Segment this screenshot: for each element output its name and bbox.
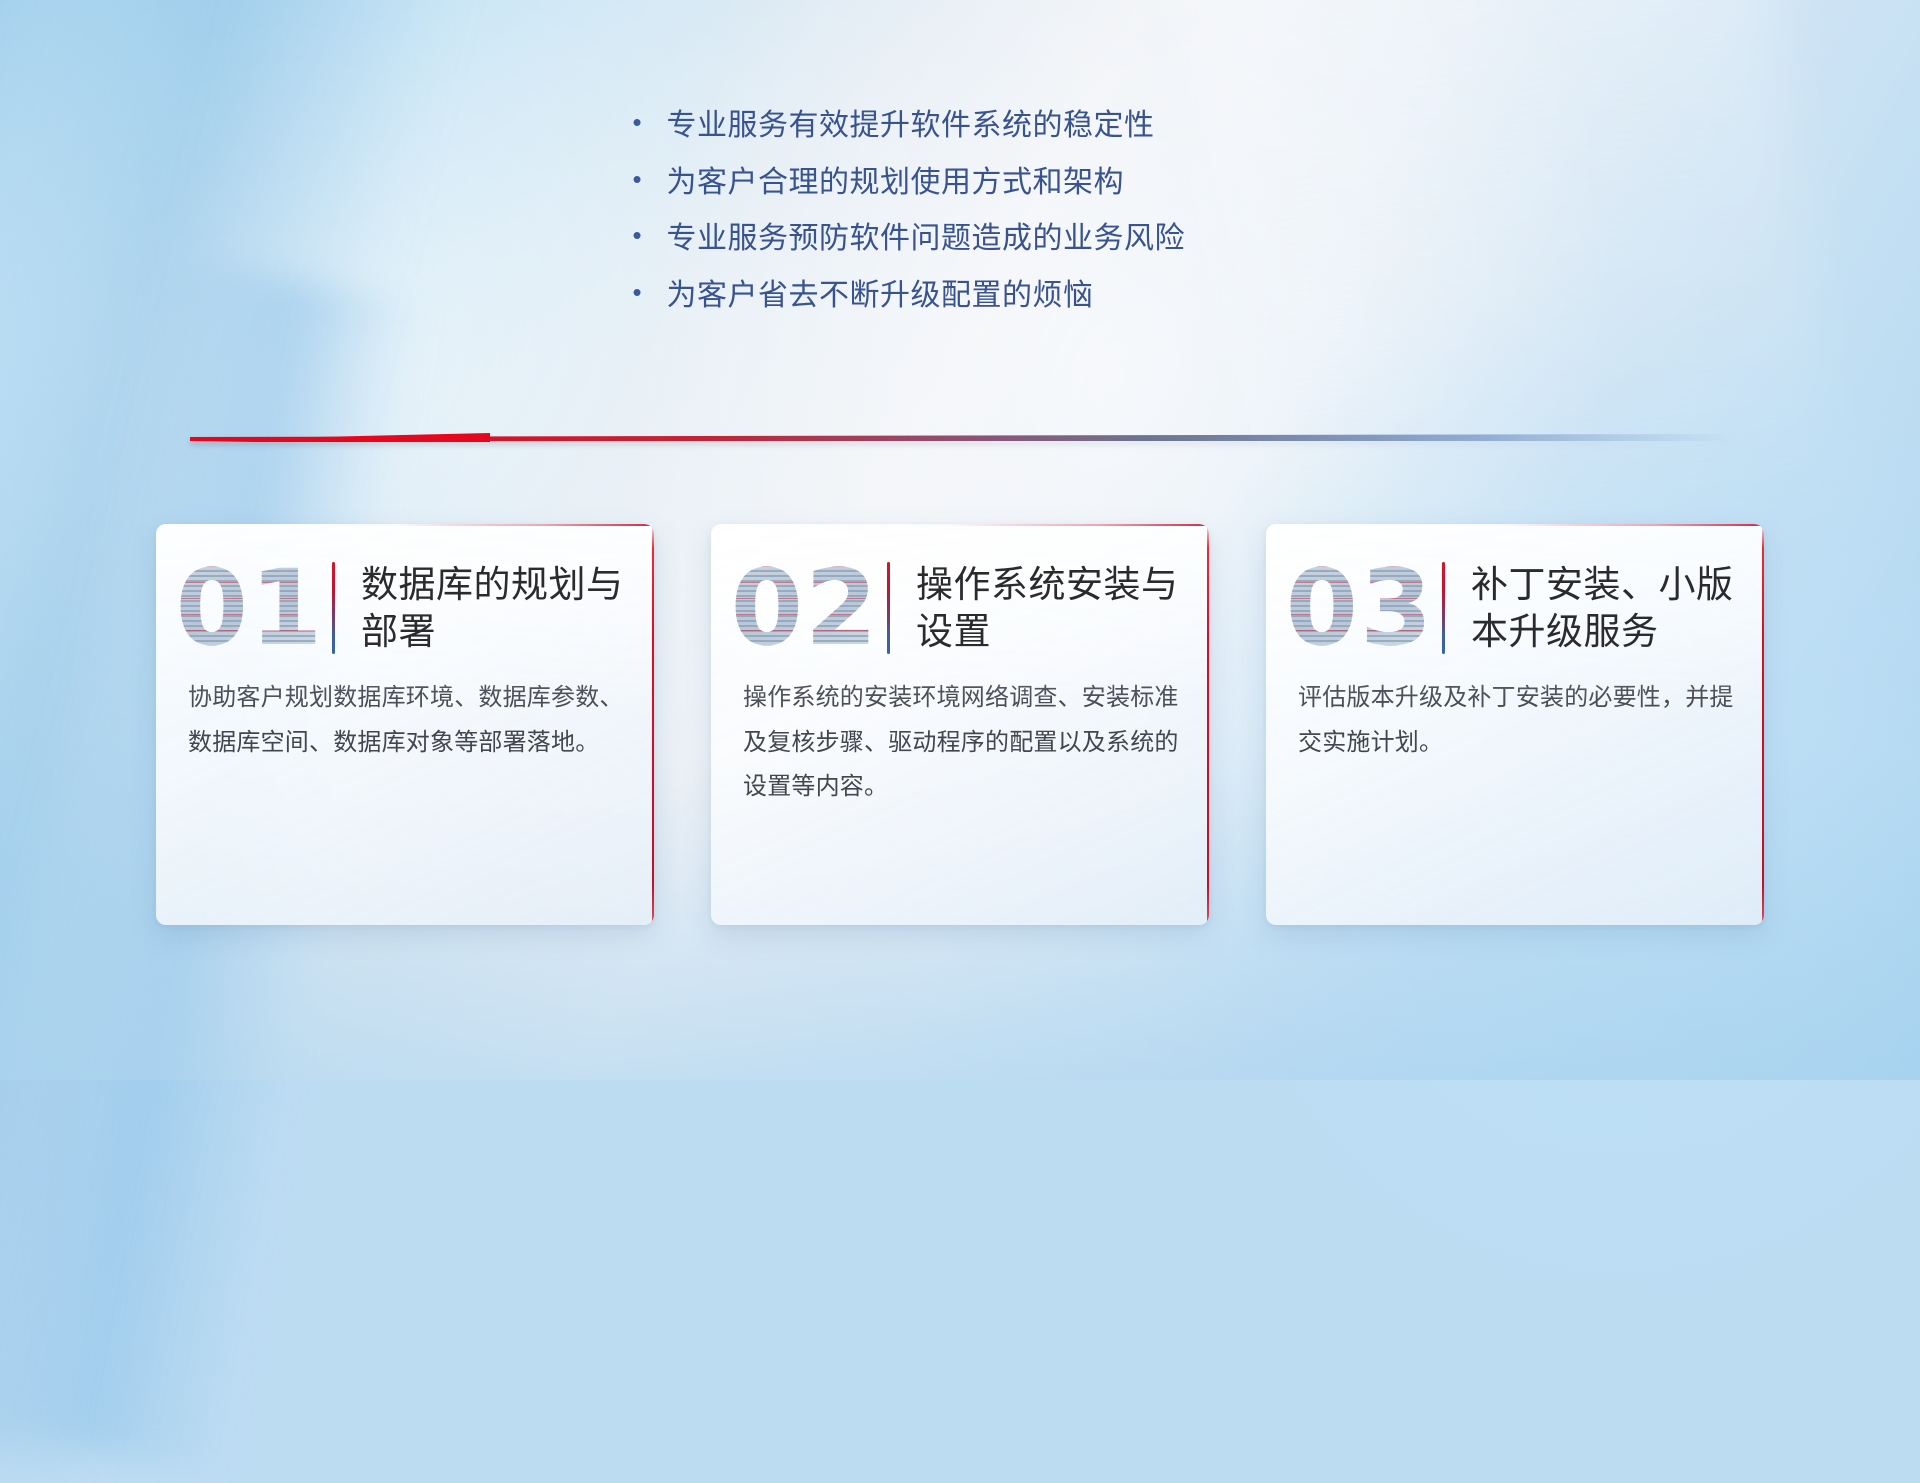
card-number-overlay: 03	[1284, 550, 1436, 666]
bullet-text: 为客户省去不断升级配置的烦恼	[667, 278, 1094, 315]
bullet-item: • 专业服务有效提升软件系统的稳定性	[633, 108, 1288, 145]
card-number: 0202	[729, 550, 881, 666]
card-body-text: 协助客户规划数据库环境、数据库参数、数据库空间、数据库对象等部署落地。	[156, 676, 654, 765]
card-header: 0101 数据库的规划与部署	[156, 524, 654, 676]
service-card[interactable]: 0101 数据库的规划与部署 协助客户规划数据库环境、数据库参数、数据库空间、数…	[156, 524, 654, 925]
card-body-text: 评估版本升级及补丁安装的必要性，并提交实施计划。	[1266, 676, 1764, 765]
bullet-item: • 专业服务预防软件问题造成的业务风险	[633, 221, 1288, 258]
bullet-dot-icon: •	[633, 222, 667, 248]
bullet-text: 为客户合理的规划使用方式和架构	[667, 165, 1125, 202]
bullet-list: • 专业服务有效提升软件系统的稳定性 • 为客户合理的规划使用方式和架构 • 专…	[0, 108, 1920, 334]
card-header: 0202 操作系统安装与设置	[711, 524, 1209, 676]
card-row: 0101 数据库的规划与部署 协助客户规划数据库环境、数据库参数、数据库空间、数…	[0, 524, 1920, 925]
card-title: 数据库的规划与部署	[361, 561, 628, 656]
service-card[interactable]: 0202 操作系统安装与设置 操作系统的安装环境网络调查、安装标准及复核步骤、驱…	[711, 524, 1209, 925]
bullet-dot-icon: •	[633, 279, 667, 305]
card-header: 0303 补丁安装、小版本升级服务	[1266, 524, 1764, 676]
service-card[interactable]: 0303 补丁安装、小版本升级服务 评估版本升级及补丁安装的必要性，并提交实施计…	[1266, 524, 1764, 925]
card-title: 补丁安装、小版本升级服务	[1471, 561, 1738, 656]
card-number-overlay: 01	[174, 550, 326, 666]
bullet-item: • 为客户合理的规划使用方式和架构	[633, 165, 1288, 202]
bullet-dot-icon: •	[633, 166, 667, 192]
card-body-text: 操作系统的安装环境网络调查、安装标准及复核步骤、驱动程序的配置以及系统的设置等内…	[711, 676, 1209, 810]
card-number-overlay: 02	[729, 550, 881, 666]
card-title-rule	[887, 562, 890, 654]
bullet-text: 专业服务预防软件问题造成的业务风险	[667, 221, 1186, 258]
card-number: 0101	[174, 550, 326, 666]
card-title: 操作系统安装与设置	[916, 561, 1183, 656]
bullet-text: 专业服务有效提升软件系统的稳定性	[667, 108, 1155, 145]
section-divider	[190, 430, 1735, 444]
bullet-dot-icon: •	[633, 109, 667, 135]
card-title-rule	[332, 562, 335, 654]
card-number: 0303	[1284, 550, 1436, 666]
bullet-item: • 为客户省去不断升级配置的烦恼	[633, 278, 1288, 315]
card-title-rule	[1442, 562, 1445, 654]
